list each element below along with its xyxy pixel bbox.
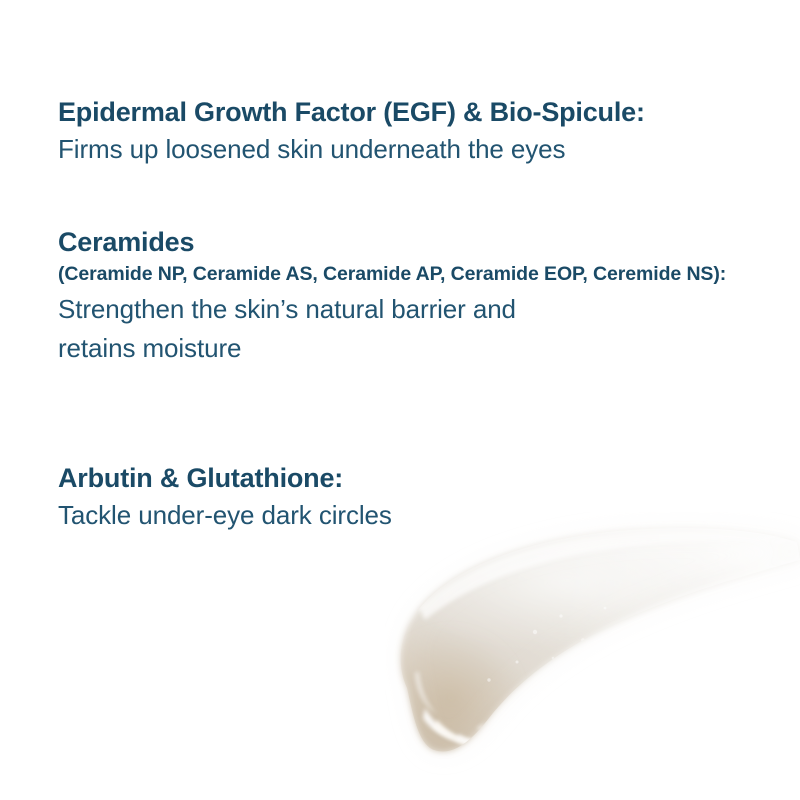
ingredient-section-egf: Epidermal Growth Factor (EGF) & Bio-Spic… [58, 96, 758, 168]
ingredient-description-ceramides-line-2: retains moisture [58, 330, 748, 367]
ingredient-heading-ceramides: Ceramides [58, 226, 758, 259]
ingredient-section-arbutin: Arbutin & Glutathione: Tackle under-eye … [58, 462, 758, 534]
ingredient-description-arbutin: Tackle under-eye dark circles [58, 497, 748, 534]
ingredient-section-ceramides: Ceramides (Ceramide NP, Ceramide AS, Cer… [58, 226, 758, 366]
ingredient-heading-egf: Epidermal Growth Factor (EGF) & Bio-Spic… [58, 96, 758, 129]
ingredient-heading-arbutin: Arbutin & Glutathione: [58, 462, 758, 495]
ingredient-description-ceramides-line-1: Strengthen the skin’s natural barrier an… [58, 291, 748, 328]
ingredient-subheading-ceramides: (Ceramide NP, Ceramide AS, Ceramide AP, … [58, 261, 748, 289]
ingredient-description-egf: Firms up loosened skin underneath the ey… [58, 131, 748, 168]
ingredient-benefits-panel: Epidermal Growth Factor (EGF) & Bio-Spic… [0, 0, 800, 800]
